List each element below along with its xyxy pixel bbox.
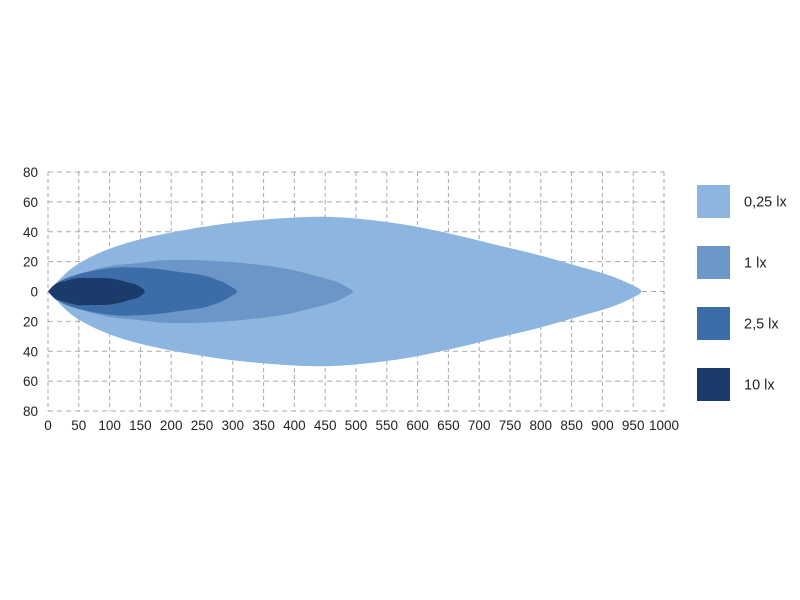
x-axis-tick-label: 650 (437, 418, 460, 433)
x-axis-tick-label: 850 (560, 418, 583, 433)
x-axis-tick-label: 150 (129, 418, 152, 433)
y-axis-tick-label: 0 (30, 285, 38, 300)
legend-item: 0,25 lx (697, 185, 787, 218)
y-axis-tick-label: 60 (23, 195, 38, 210)
y-axis-tick-label: 20 (23, 314, 38, 329)
legend-item-label: 0,25 lx (744, 195, 787, 211)
legend-item: 10 lx (697, 368, 775, 401)
y-axis-tick-label: 80 (23, 404, 38, 419)
legend: 0,25 lx1 lx2,5 lx10 lx (697, 185, 787, 401)
beam-distribution-plot: 0501001502002503003504004505005506006507… (0, 0, 800, 600)
x-axis-tick-label: 800 (530, 418, 553, 433)
legend-color-swatch (697, 307, 730, 340)
x-axis-tick-label: 450 (314, 418, 337, 433)
legend-item-label: 1 lx (744, 256, 767, 272)
legend-item-label: 10 lx (744, 378, 775, 394)
legend-item: 1 lx (697, 246, 767, 279)
x-axis-tick-label: 700 (468, 418, 491, 433)
x-axis-tick-label: 900 (591, 418, 614, 433)
y-axis-tick-label: 20 (23, 255, 38, 270)
legend-color-swatch (697, 368, 730, 401)
legend-color-swatch (697, 246, 730, 279)
x-axis-tick-label: 50 (71, 418, 86, 433)
x-axis-tick-label: 250 (191, 418, 214, 433)
x-axis-tick-labels: 0501001502002503003504004505005506006507… (44, 418, 679, 433)
legend-item: 2,5 lx (697, 307, 779, 340)
x-axis-tick-label: 200 (160, 418, 183, 433)
y-axis-tick-labels: 80604020020406080 (23, 165, 38, 419)
x-axis-tick-label: 600 (406, 418, 429, 433)
y-axis-tick-label: 60 (23, 374, 38, 389)
x-axis-tick-label: 750 (499, 418, 522, 433)
x-axis-tick-label: 350 (252, 418, 275, 433)
x-axis-tick-label: 1000 (649, 418, 679, 433)
x-axis-tick-label: 500 (345, 418, 368, 433)
x-axis-tick-label: 0 (44, 418, 52, 433)
x-axis-tick-label: 400 (283, 418, 306, 433)
x-axis-tick-label: 300 (222, 418, 245, 433)
y-axis-tick-label: 40 (23, 344, 38, 359)
y-axis-tick-label: 80 (23, 165, 38, 180)
legend-item-label: 2,5 lx (744, 317, 779, 333)
x-axis-tick-label: 550 (376, 418, 399, 433)
y-axis-tick-label: 40 (23, 225, 38, 240)
legend-color-swatch (697, 185, 730, 218)
x-axis-tick-label: 100 (98, 418, 121, 433)
light-distribution-chart: 0501001502002503003504004505005506006507… (0, 0, 800, 600)
x-axis-tick-label: 950 (622, 418, 645, 433)
